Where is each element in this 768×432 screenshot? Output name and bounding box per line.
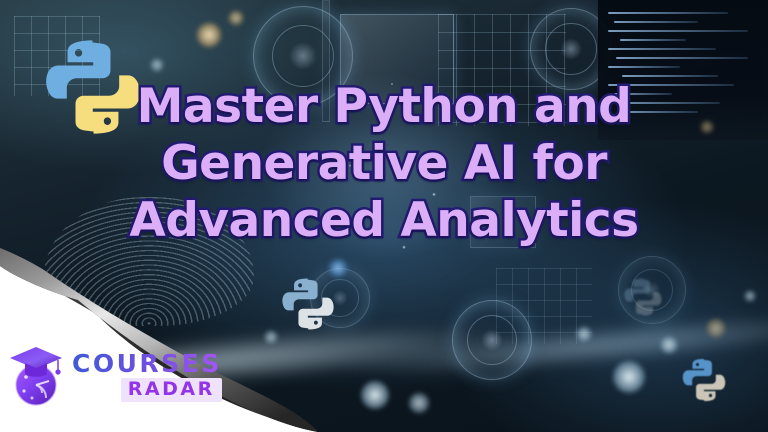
brand-name-secondary: RADAR [121, 378, 222, 402]
bokeh-orb [408, 392, 430, 414]
code-line [608, 48, 716, 50]
code-line [608, 66, 680, 68]
bokeh-orb [264, 330, 278, 344]
bokeh-orb [360, 380, 390, 410]
python-logo-small [680, 352, 728, 408]
hud-ring-mid-right [452, 300, 532, 380]
bokeh-orb [150, 58, 164, 72]
python-logo-center [279, 270, 337, 338]
headline-line-1: Master Python and [0, 78, 768, 135]
brand-name-primary: COURSES [72, 351, 222, 376]
bokeh-orb [744, 290, 756, 302]
brand-logo[interactable]: COURSES RADAR [8, 338, 198, 410]
graduation-cap-radar-icon [8, 341, 66, 407]
bokeh-orb [196, 22, 222, 48]
headline-line-3: Advanced Analytics [0, 192, 768, 249]
bokeh-orb [228, 10, 244, 26]
brand-wordmark: COURSES RADAR [72, 347, 222, 402]
headline-line-2: Generative AI for [0, 135, 768, 192]
python-logo-faint [622, 272, 664, 322]
bokeh-orb [706, 318, 726, 338]
bokeh-orb [660, 336, 678, 354]
page-title: Master Python and Generative AI for Adva… [0, 78, 768, 249]
code-line [622, 75, 718, 77]
bokeh-orb [576, 326, 592, 342]
code-line [614, 21, 698, 23]
course-thumbnail-card: Master Python and Generative AI for Adva… [0, 0, 768, 432]
code-line [608, 30, 748, 32]
code-line [620, 39, 686, 41]
code-line [608, 12, 728, 14]
bokeh-orb [612, 360, 646, 394]
code-line [616, 57, 748, 59]
